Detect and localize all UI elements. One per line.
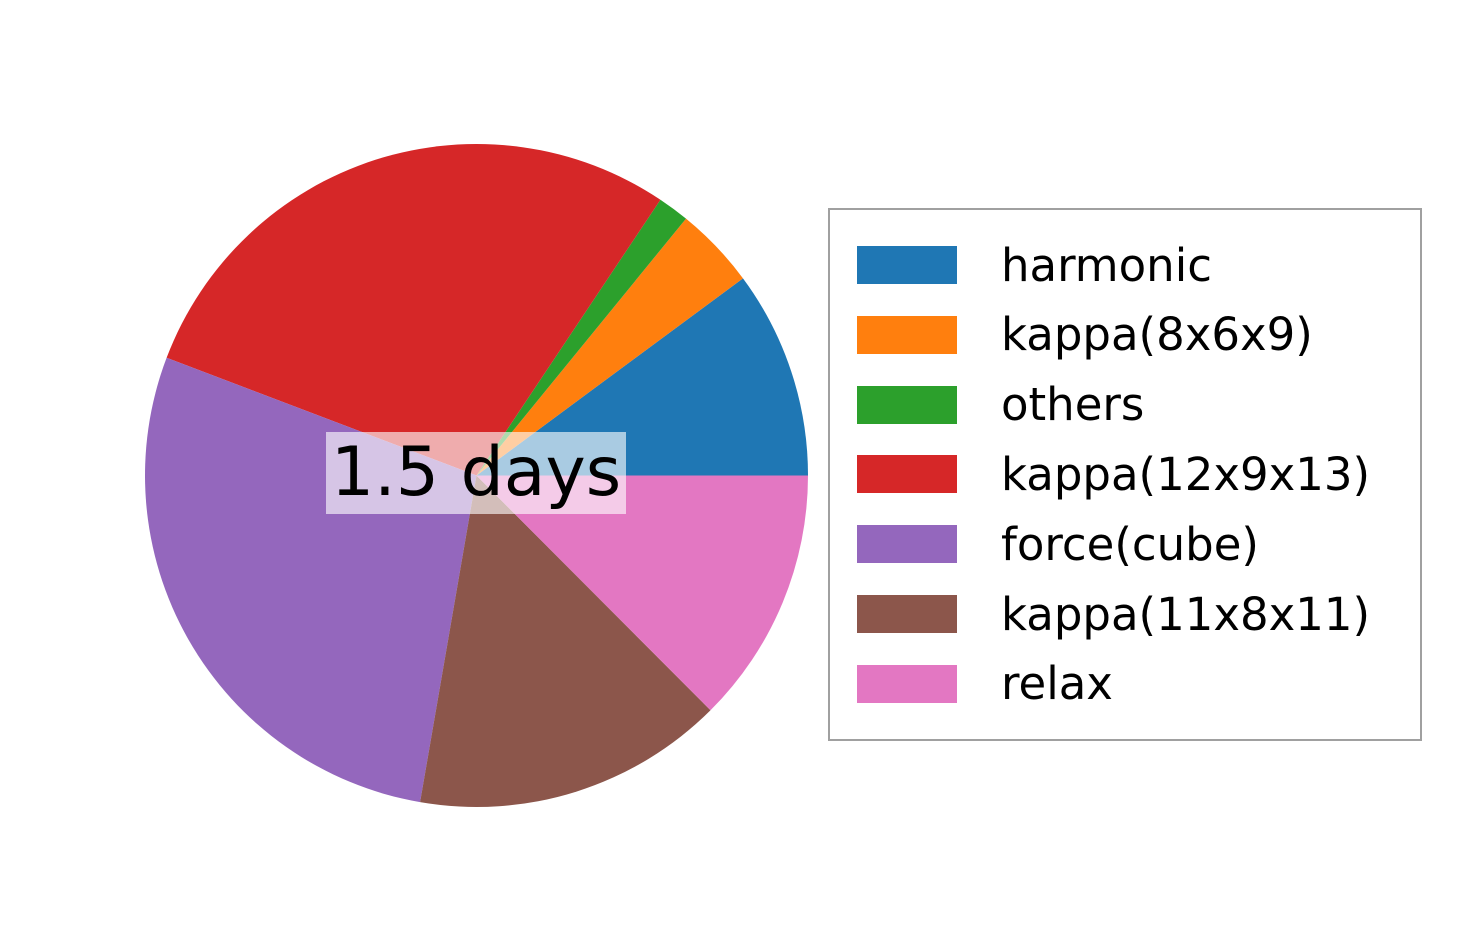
legend-swatch-icon [857,525,957,563]
legend-label: kappa(8x6x9) [1001,312,1313,357]
legend-swatch-icon [857,316,957,354]
legend-swatch-icon [857,455,957,493]
center-annotation: 1.5 days [326,432,626,514]
chart-legend: harmonickappa(8x6x9)otherskappa(12x9x13)… [828,208,1422,741]
legend-item[interactable]: kappa(12x9x13) [830,441,1420,507]
legend-swatch-icon [857,386,957,424]
legend-swatch-icon [857,595,957,633]
legend-item[interactable]: force(cube) [830,511,1420,577]
legend-label: kappa(12x9x13) [1001,452,1370,497]
legend-label: harmonic [1001,243,1212,288]
legend-item[interactable]: harmonic [830,232,1420,298]
legend-label: others [1001,382,1144,427]
center-annotation-text: 1.5 days [331,439,621,507]
legend-label: force(cube) [1001,522,1259,567]
legend-label: kappa(11x8x11) [1001,592,1370,637]
legend-item[interactable]: kappa(11x8x11) [830,581,1420,647]
legend-item[interactable]: others [830,372,1420,438]
legend-swatch-icon [857,246,957,284]
legend-item[interactable]: kappa(8x6x9) [830,302,1420,368]
legend-label: relax [1001,661,1113,706]
legend-item[interactable]: relax [830,651,1420,717]
legend-item-list: harmonickappa(8x6x9)otherskappa(12x9x13)… [830,232,1420,717]
legend-swatch-icon [857,665,957,703]
pie-chart-figure: 1.5 days harmonickappa(8x6x9)otherskappa… [0,0,1483,951]
